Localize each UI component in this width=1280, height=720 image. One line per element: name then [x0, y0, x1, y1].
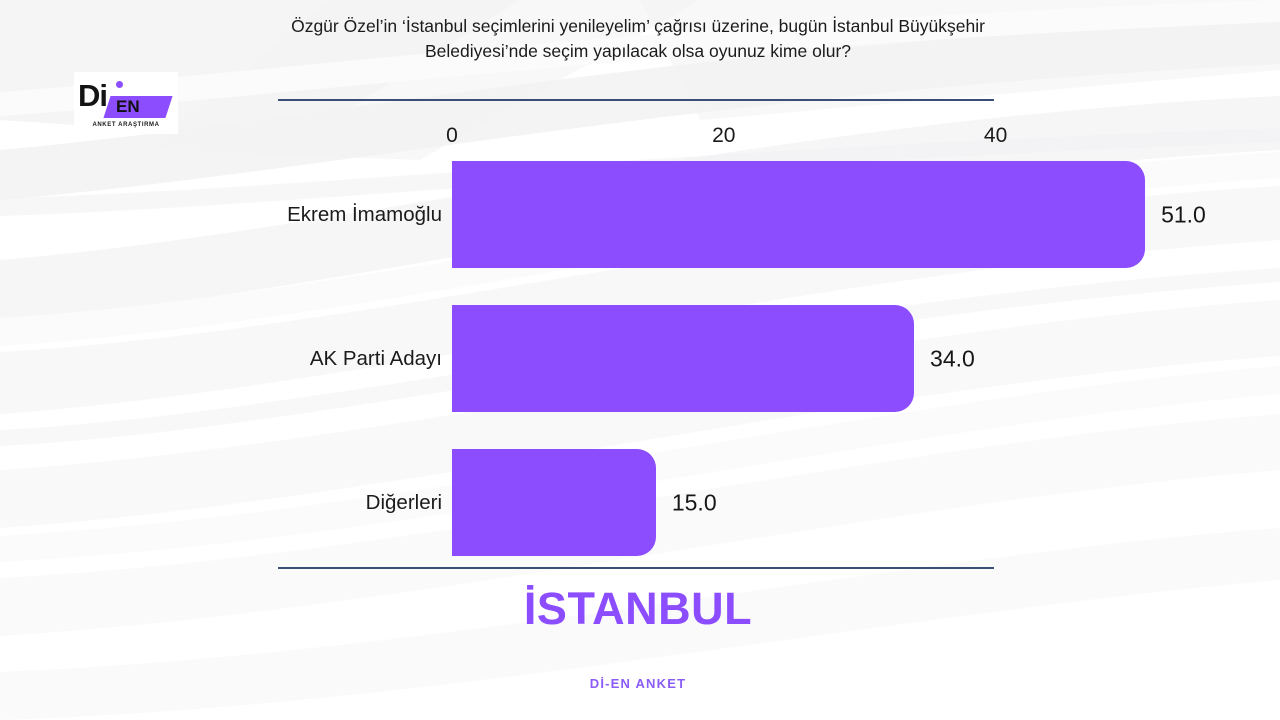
- city-title: İSTANBUL: [280, 583, 996, 635]
- category-label: Diğerleri: [366, 491, 442, 515]
- bar-value-label: 15.0: [672, 489, 717, 516]
- category-label: AK Parti Adayı: [310, 347, 442, 371]
- bar-2: [452, 305, 914, 412]
- category-label: Ekrem İmamoğlu: [287, 203, 442, 227]
- bar-value-label: 34.0: [930, 345, 975, 372]
- bar-value-label: 51.0: [1161, 201, 1206, 228]
- brand-footer: Dİ-EN ANKET: [280, 676, 996, 691]
- bar-3: [452, 449, 656, 556]
- bar-1: [452, 161, 1145, 268]
